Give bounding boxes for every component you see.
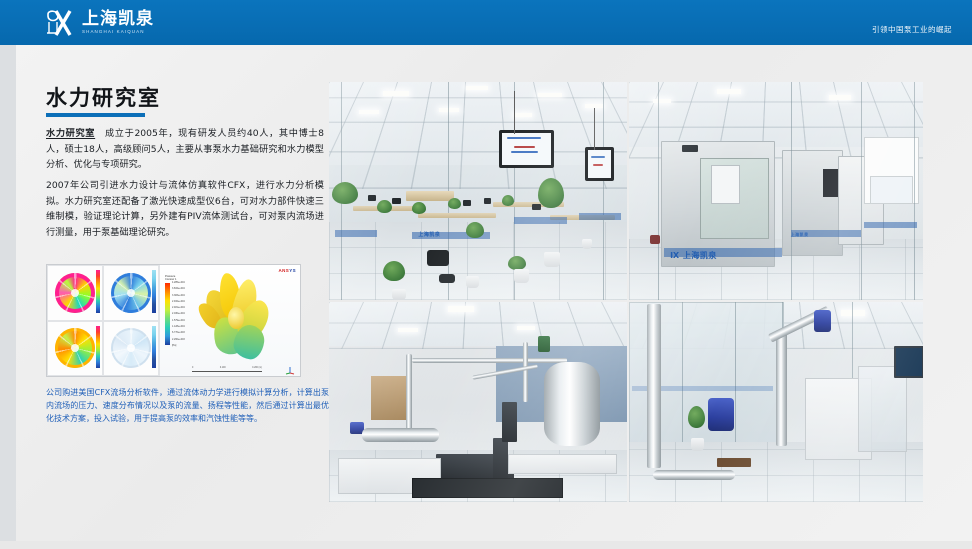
logo-english-name: SHANGHAI KAIQUAN xyxy=(82,28,154,35)
legend-tick: 6.770e+003 xyxy=(172,330,185,336)
paragraph-intro: 水力研究室 成立于2005年，现有研发人员约40人，其中博士8人，硕士18人，高… xyxy=(46,126,324,173)
brand-logo[interactable]: 上海凯泉 SHANGHAI KAIQUAN xyxy=(44,7,154,38)
photo-piv-test-rig xyxy=(329,302,627,502)
impeller-contour-bottom-right xyxy=(103,321,159,377)
glass-logo-watermark: Ⅸ 上海凯泉 xyxy=(670,250,717,261)
legend-tick: 2.030e+004 xyxy=(172,311,185,317)
monitor-display xyxy=(894,346,923,378)
photo-pump-test-loop xyxy=(629,302,923,502)
photo-grid: 上海凯泉 xyxy=(329,82,923,502)
pump-motor-front[interactable] xyxy=(708,398,734,431)
glass-logo-watermark: 上海凯泉 xyxy=(418,231,440,238)
impeller-contour-top-left xyxy=(47,265,103,321)
paragraph-lead-term: 水力研究室 xyxy=(46,128,95,139)
impeller-3d-pressure-view: ANSYS Pressure Contour 1 4.285e+0043.834… xyxy=(159,265,300,376)
pressure-vessel xyxy=(544,362,601,446)
legend-tick: 3.383e+004 xyxy=(172,293,185,299)
riser-pipe xyxy=(647,304,661,468)
left-gutter xyxy=(0,45,16,541)
wall-display-screen xyxy=(499,130,554,168)
legend-tick: 3.834e+004 xyxy=(172,286,185,292)
scale-label-0: 0 xyxy=(192,367,193,369)
kaiquan-logo-icon xyxy=(44,8,76,38)
logo-chinese-name: 上海凯泉 xyxy=(82,10,154,28)
legend-color-bar xyxy=(165,283,170,345)
slide-content: 水力研究室 水力研究室 成立于2005年，现有研发人员约40人，其中博士8人，硕… xyxy=(0,45,972,541)
scale-bar: 0 0.100 0.200 (m) xyxy=(192,367,262,373)
scale-label-2: 0.200 (m) xyxy=(252,367,262,369)
pump-motor-rear[interactable] xyxy=(814,310,831,332)
title-underline xyxy=(46,113,145,117)
paragraph-software: 2007年公司引进水力设计与流体仿真软件CFX，进行水力分析模拟。水力研究室还配… xyxy=(46,178,324,240)
photo-rapid-prototyping-lab: Ⅸ 上海凯泉 上海凯泉 xyxy=(629,82,923,300)
legend-tick-labels: 4.285e+0043.834e+0043.383e+0042.932e+004… xyxy=(172,280,185,349)
secondary-display-screen xyxy=(585,147,614,181)
pressure-legend: Pressure Contour 1 4.285e+0043.834e+0043… xyxy=(165,275,191,345)
legend-axis-label: [Pa] xyxy=(172,343,185,349)
impeller-contour-top-right xyxy=(103,265,159,321)
axis-triad-icon xyxy=(285,362,295,372)
photo-research-office: 上海凯泉 xyxy=(329,82,627,300)
cfd-simulation-figure: ANSYS Pressure Contour 1 4.285e+0043.834… xyxy=(46,264,301,377)
page-header: 上海凯泉 SHANGHAI KAIQUAN 引领中国泵工业的崛起 xyxy=(0,0,972,45)
cfd-contour-grid xyxy=(47,265,159,376)
header-slogan: 引领中国泵工业的崛起 xyxy=(872,24,952,35)
page-title: 水力研究室 xyxy=(46,86,161,110)
scale-label-1: 0.100 xyxy=(220,367,226,369)
ansys-watermark: ANSYS xyxy=(278,268,296,273)
cfd-caption: 公司购进美国CFX流场分析软件，通过流体动力学进行模拟计算分析，计算出泵内流场的… xyxy=(46,386,329,426)
impeller-contour-bottom-left xyxy=(47,321,103,377)
page-title-block: 水力研究室 xyxy=(46,86,161,117)
impeller-3d-geometry xyxy=(200,271,272,363)
slide-root: 上海凯泉 SHANGHAI KAIQUAN 引领中国泵工业的崛起 水力研究室 水… xyxy=(0,0,972,549)
